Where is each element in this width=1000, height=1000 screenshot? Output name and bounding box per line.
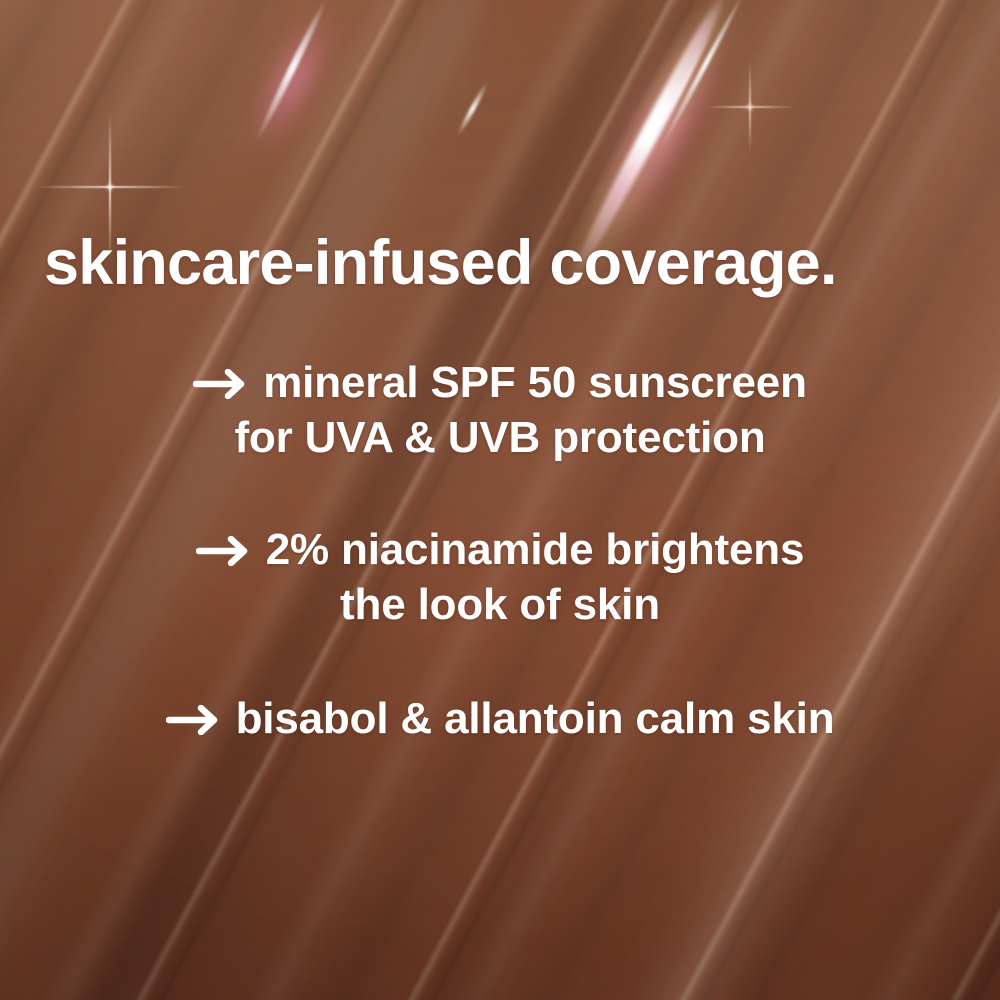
bullet-text: 2% niacinamide brightens: [266, 525, 805, 574]
bullet-text: the look of skin: [0, 578, 1000, 633]
arrow-right-icon: [196, 536, 252, 566]
benefit-list: mineral SPF 50 sunscreen for UVA & UVB p…: [0, 356, 1000, 747]
bullet-text: mineral SPF 50 sunscreen: [263, 358, 807, 407]
bullet-line: mineral SPF 50 sunscreen: [0, 356, 1000, 411]
page-title: skincare-infused coverage.: [44, 231, 837, 297]
promo-banner: skincare-infused coverage. mineral SPF 5…: [0, 0, 1000, 1000]
bullet-line: 2% niacinamide brightens: [0, 523, 1000, 578]
bullet-line: bisabol & allantoin calm skin: [0, 692, 1000, 747]
bullet-text: bisabol & allantoin calm skin: [236, 694, 835, 743]
list-item: mineral SPF 50 sunscreen for UVA & UVB p…: [0, 356, 1000, 465]
bullet-text: for UVA & UVB protection: [0, 411, 1000, 466]
arrow-right-icon: [166, 705, 222, 735]
arrow-right-icon: [193, 369, 249, 399]
content-overlay: skincare-infused coverage. mineral SPF 5…: [0, 0, 1000, 1000]
list-item: 2% niacinamide brightens the look of ski…: [0, 523, 1000, 632]
list-item: bisabol & allantoin calm skin: [0, 692, 1000, 747]
